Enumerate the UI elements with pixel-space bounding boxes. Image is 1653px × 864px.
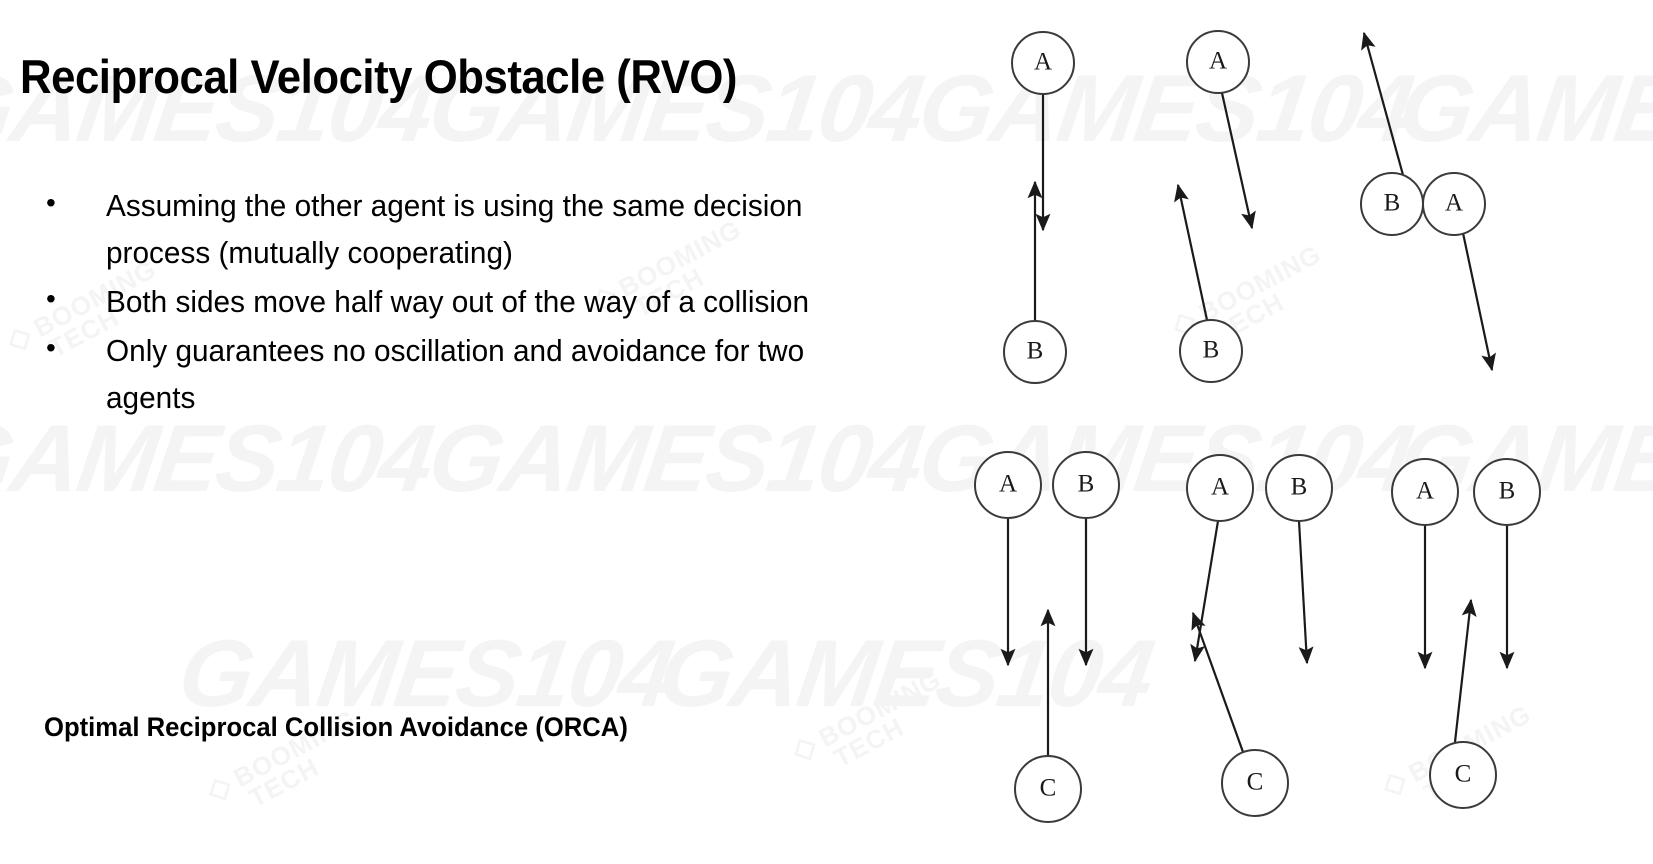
agent-label-A: A	[1445, 190, 1463, 217]
bullet-text: Assuming the other agent is using the sa…	[106, 182, 845, 276]
bullet-item: •Assuming the other agent is using the s…	[46, 182, 876, 276]
panel-three-agent-resolved: ABC	[1392, 459, 1540, 808]
velocity-arrow-A	[1195, 521, 1218, 661]
rvo-diagram-panel: ABABBAABCABCABC	[955, 0, 1653, 864]
panel-three-agent-adjusting: ABC	[1187, 455, 1332, 816]
agent-label-B: B	[1499, 478, 1516, 505]
slide-content: Reciprocal Velocity Obstacle (RVO) •Assu…	[0, 0, 1653, 864]
panel-reciprocal-split: AB	[1178, 31, 1252, 382]
bullet-text: Both sides move half way out of the way …	[106, 278, 845, 325]
agent-label-C: C	[1247, 769, 1264, 796]
rvo-diagram-svg: ABABBAABCABCABC	[955, 0, 1653, 864]
velocity-arrow-A	[1463, 233, 1492, 370]
bullet-item: •Both sides move half way out of the way…	[46, 278, 876, 325]
agent-label-A: A	[1034, 49, 1052, 76]
agent-label-C: C	[1040, 775, 1057, 802]
panel-three-agent-initial: ABC	[975, 452, 1119, 822]
agent-label-B: B	[1384, 190, 1401, 217]
agent-label-C: C	[1455, 761, 1472, 788]
agent-label-A: A	[999, 471, 1017, 498]
agent-label-A: A	[1416, 478, 1434, 505]
bullet-marker-icon: •	[46, 182, 106, 225]
orca-subtitle: Optimal Reciprocal Collision Avoidance (…	[44, 712, 628, 743]
velocity-arrow-B	[1178, 185, 1207, 320]
velocity-arrow-B	[1364, 33, 1403, 175]
bullet-item: •Only guarantees no oscillation and avoi…	[46, 327, 876, 421]
agent-label-A: A	[1211, 474, 1229, 501]
bullet-marker-icon: •	[46, 278, 106, 321]
velocity-arrow-C	[1193, 613, 1243, 752]
bullet-text: Only guarantees no oscillation and avoid…	[106, 327, 845, 421]
panel-head-on-collision: AB	[1004, 32, 1074, 383]
agent-label-B: B	[1078, 471, 1095, 498]
agent-label-B: B	[1203, 337, 1220, 364]
velocity-arrow-A	[1222, 93, 1252, 228]
bullet-marker-icon: •	[46, 327, 106, 370]
agent-label-B: B	[1291, 474, 1308, 501]
panel-passed-each-other: BA	[1361, 33, 1492, 370]
page-title: Reciprocal Velocity Obstacle (RVO)	[20, 49, 737, 104]
agent-label-B: B	[1027, 338, 1044, 365]
agent-label-A: A	[1209, 48, 1227, 75]
velocity-arrow-B	[1299, 521, 1307, 663]
bullet-list: •Assuming the other agent is using the s…	[46, 182, 876, 424]
velocity-arrow-C	[1455, 600, 1471, 742]
